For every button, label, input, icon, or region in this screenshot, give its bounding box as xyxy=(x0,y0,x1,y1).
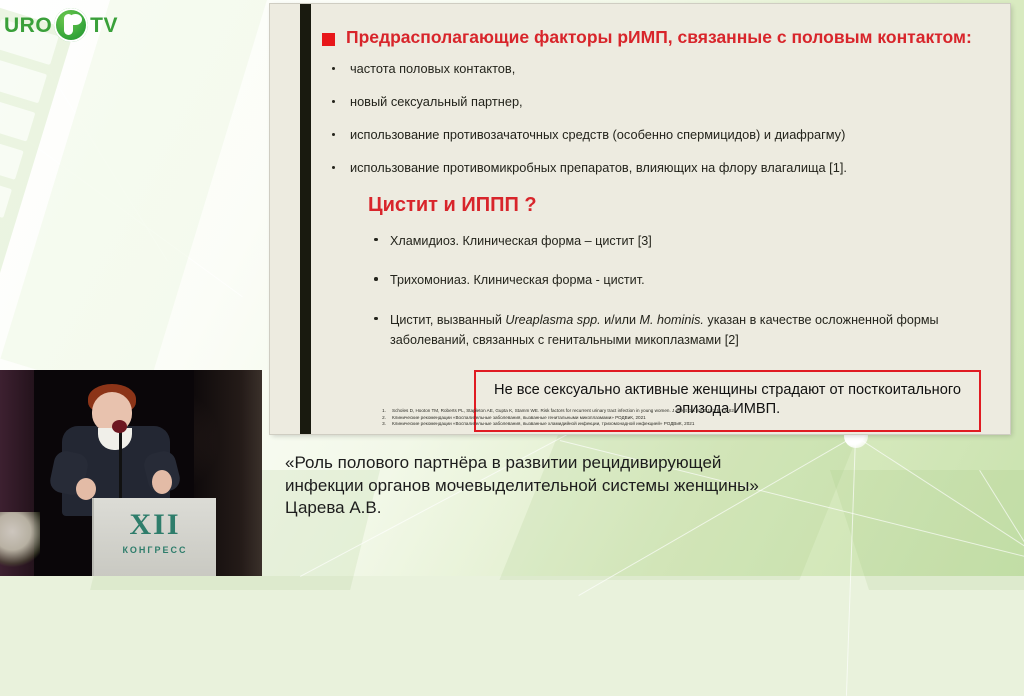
text-run: и/или xyxy=(601,313,640,327)
red-square-bullet-icon xyxy=(322,33,335,46)
talk-caption: «Роль полового партнёра в развитии рецид… xyxy=(285,452,925,520)
slide-left-bar xyxy=(300,4,311,434)
speaker-video-thumbnail[interactable]: XII КОНГРЕСС xyxy=(0,370,262,576)
presentation-slide: Предрасполагающие факторы рИМП, связанны… xyxy=(270,4,1010,434)
reference-item: 3.Клинические рекомендации «Воспалительн… xyxy=(374,421,1014,428)
podium-congress-label: КОНГРЕСС xyxy=(94,546,216,555)
slide-title-row: Предрасполагающие факторы рИМП, связанны… xyxy=(322,27,1002,48)
reference-number: 3. xyxy=(374,421,386,428)
italic-term: Ureaplasma spp. xyxy=(505,313,600,327)
list-item: Цистит, вызванный Ureaplasma spp. и/или … xyxy=(368,310,1002,351)
urotv-logo[interactable]: URO TV xyxy=(4,2,128,48)
italic-term: M. hominis. xyxy=(640,313,704,327)
podium: XII КОНГРЕСС xyxy=(92,498,216,576)
reference-number: 2. xyxy=(374,415,386,422)
caption-line-1: «Роль полового партнёра в развитии рецид… xyxy=(285,452,925,475)
logo-text-right: TV xyxy=(90,15,118,36)
list-item: использование противомикробных препарато… xyxy=(322,160,1002,176)
slide-subheading: Цистит и ИППП ? xyxy=(368,193,1002,217)
list-item: Хламидиоз. Клиническая форма – цистит [3… xyxy=(368,231,1002,251)
reference-list: 1.Scholes D, Hooton TM, Roberts PL, Stap… xyxy=(374,408,1014,428)
caption-line-3: Царева А.В. xyxy=(285,497,925,520)
microphone-stand-icon xyxy=(119,426,122,498)
speaker-hand-right xyxy=(152,470,172,494)
text-run: Трихомониаз. Клиническая форма - цистит. xyxy=(390,273,645,287)
list-item: использование противозачаточных средств … xyxy=(322,127,1002,143)
speaker-hand-left xyxy=(76,478,96,500)
primary-bullet-list: частота половых контактов, новый сексуал… xyxy=(322,61,1002,176)
podium-roman-numeral: XII xyxy=(94,510,216,540)
list-item: частота половых контактов, xyxy=(322,61,1002,77)
video-frame: XII КОНГРЕСС xyxy=(0,370,262,576)
microphone-icon xyxy=(112,420,127,433)
slide-title: Предрасполагающие факторы рИМП, связанны… xyxy=(346,27,972,48)
list-item: новый сексуальный партнер, xyxy=(322,94,1002,110)
reference-text: Scholes D, Hooton TM, Roberts PL, Staple… xyxy=(392,408,735,415)
reference-item: 1.Scholes D, Hooton TM, Roberts PL, Stap… xyxy=(374,408,1014,415)
text-run: Цистит, вызванный xyxy=(390,313,505,327)
text-run: Хламидиоз. Клиническая форма – цистит [3… xyxy=(390,234,652,248)
logo-text-left: URO xyxy=(4,15,52,36)
reference-text: Клинические рекомендации «Воспалительные… xyxy=(392,421,694,428)
caption-line-2: инфекции органов мочевыделительной систе… xyxy=(285,475,925,498)
list-item: Трихомониаз. Клиническая форма - цистит. xyxy=(368,270,1002,290)
reference-number: 1. xyxy=(374,408,386,415)
secondary-bullet-list: Хламидиоз. Клиническая форма – цистит [3… xyxy=(368,231,1002,351)
urotv-emblem-icon xyxy=(54,8,88,42)
flower-arrangement xyxy=(0,512,40,568)
